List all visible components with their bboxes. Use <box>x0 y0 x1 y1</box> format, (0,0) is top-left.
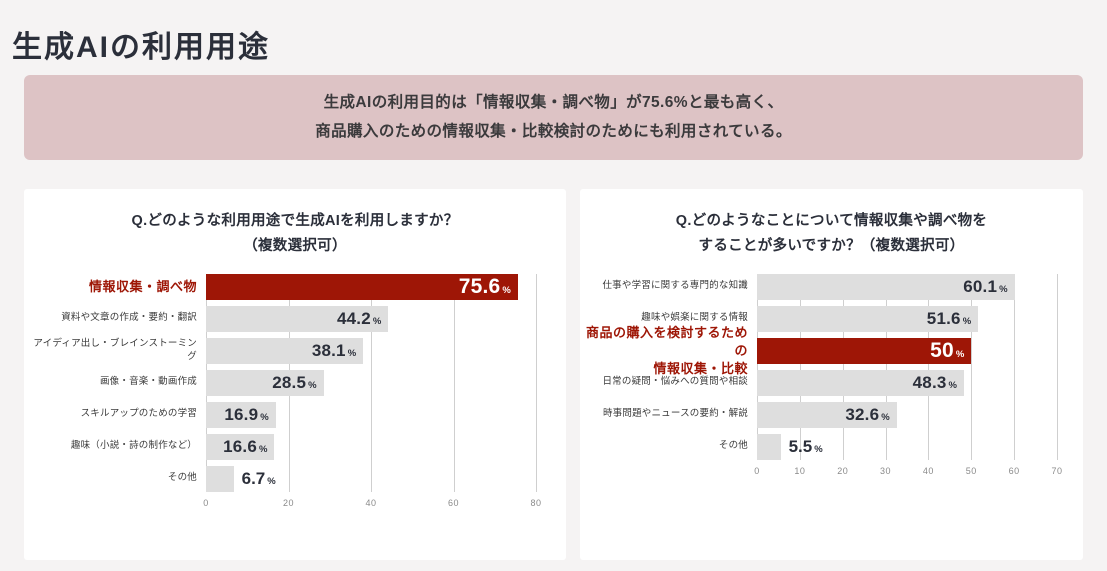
bar-value-unit: % <box>963 316 971 327</box>
chart-rows: 情報収集・調べ物75.6%資料や文章の作成・要約・翻訳44.2%アイディア出し・… <box>24 274 566 492</box>
bar-category-label: アイディア出し・ブレインストーミング <box>24 338 206 364</box>
bar-track: 5.5% <box>757 434 1083 460</box>
bar-value: 6.7% <box>242 469 276 489</box>
page-title: 生成AIの利用用途 <box>12 28 270 67</box>
chart-bar-row: その他5.5% <box>580 434 1083 460</box>
chart-bar-row: 時事問題やニュースの要約・解説32.6% <box>580 402 1083 428</box>
bar-category-label: 資料や文章の作成・要約・翻訳 <box>24 312 206 325</box>
axis-tick-label: 20 <box>283 498 294 508</box>
chart-bar-row: 情報収集・調べ物75.6% <box>24 274 566 300</box>
bar: 16.6% <box>206 434 274 460</box>
bar-value-unit: % <box>260 412 268 423</box>
chart-card-research-topics: Q.どのようなことについて情報収集や調べ物を することが多いですか？（複数選択可… <box>580 189 1083 560</box>
summary-line-2: 商品購入のための情報収集・比較検討のためにも利用されている。 <box>315 118 792 147</box>
gridline <box>757 274 758 460</box>
bar-track: 48.3% <box>757 370 1083 396</box>
axis-tick-label: 10 <box>794 466 805 476</box>
bar-value: 32.6% <box>845 405 889 425</box>
axis-tick-label: 40 <box>365 498 376 508</box>
axis-tick-label: 50 <box>966 466 977 476</box>
axis-tick-label: 0 <box>203 498 209 508</box>
bar: 44.2% <box>206 306 388 332</box>
bar-value-unit: % <box>881 412 889 423</box>
chart-title-line-1: Q.どのようなことについて情報収集や調べ物を <box>580 209 1083 234</box>
bar: 48.3% <box>757 370 964 396</box>
axis-tick-label: 0 <box>754 466 760 476</box>
x-axis: 020406080 <box>24 498 566 520</box>
chart-rows: 仕事や学習に関する専門的な知識60.1%趣味や娯楽に関する情報51.6%商品の購… <box>580 274 1083 460</box>
x-axis: 010203040506070 <box>580 466 1083 488</box>
bar-value-unit: % <box>956 349 964 360</box>
chart-bar-row: 商品の購入を検討するための情報収集・比較50% <box>580 338 1083 364</box>
bar: 28.5% <box>206 370 324 396</box>
gridline <box>886 274 887 460</box>
axis-tick-label: 20 <box>837 466 848 476</box>
chart-bar-row: その他6.7% <box>24 466 566 492</box>
bar-category-label: 趣味や娯楽に関する情報 <box>580 312 757 325</box>
summary-banner: 生成AIの利用目的は「情報収集・調べ物」が75.6%と最も高く、 商品購入のため… <box>24 75 1083 160</box>
chart-bar-row: 仕事や学習に関する専門的な知識60.1% <box>580 274 1083 300</box>
bar-value-unit: % <box>348 348 356 359</box>
bar-highlighted: 75.6% <box>206 274 518 300</box>
bar-track: 50% <box>757 338 1083 364</box>
bar-value-unit: % <box>814 444 822 455</box>
bar <box>206 466 234 492</box>
bar: 51.6% <box>757 306 978 332</box>
chart-title-line-1: Q.どのような利用用途で生成AIを利用しますか？ <box>24 209 566 234</box>
bar: 16.9% <box>206 402 276 428</box>
bar-category-label: その他 <box>580 440 757 453</box>
chart-bar-row: 日常の疑問・悩みへの質問や相談48.3% <box>580 370 1083 396</box>
bar-track: 32.6% <box>757 402 1083 428</box>
bar-category-label: 画像・音楽・動画作成 <box>24 376 206 389</box>
bar-track: 51.6% <box>757 306 1083 332</box>
chart-title-line-2: （複数選択可） <box>24 234 566 259</box>
chart-bar-row: アイディア出し・ブレインストーミング38.1% <box>24 338 566 364</box>
bar-value: 50% <box>930 339 964 363</box>
bar-value-unit: % <box>259 444 267 455</box>
chart-card-usage-purpose: Q.どのような利用用途で生成AIを利用しますか？ （複数選択可） 情報収集・調べ… <box>24 189 566 560</box>
bar-track: 44.2% <box>206 306 566 332</box>
bar <box>757 434 781 460</box>
bar-track: 38.1% <box>206 338 566 364</box>
axis-tick-label: 70 <box>1051 466 1062 476</box>
bar-track: 60.1% <box>757 274 1083 300</box>
chart-bar-row: 資料や文章の作成・要約・翻訳44.2% <box>24 306 566 332</box>
bar-value-unit: % <box>999 284 1007 295</box>
bar-highlighted: 50% <box>757 338 971 364</box>
bar-category-label: 情報収集・調べ物 <box>24 278 206 296</box>
axis-tick-label: 60 <box>1009 466 1020 476</box>
bar-track: 6.7% <box>206 466 566 492</box>
bar-track: 16.9% <box>206 402 566 428</box>
bar-track: 16.6% <box>206 434 566 460</box>
summary-line-1: 生成AIの利用目的は「情報収集・調べ物」が75.6%と最も高く、 <box>324 89 784 118</box>
bar-category-label: 時事問題やニュースの要約・解説 <box>580 408 757 421</box>
bar-category-label: 日常の疑問・悩みへの質問や相談 <box>580 376 757 389</box>
bar-value: 16.9% <box>224 405 268 425</box>
bar-value-unit: % <box>502 285 510 296</box>
bar-value: 44.2% <box>337 309 381 329</box>
gridlines <box>757 274 1057 460</box>
bar-chart-research-topics: 仕事や学習に関する専門的な知識60.1%趣味や娯楽に関する情報51.6%商品の購… <box>580 274 1083 488</box>
bar-track: 75.6% <box>206 274 566 300</box>
axis-tick-label: 80 <box>530 498 541 508</box>
bar-category-label: その他 <box>24 472 206 485</box>
gridline <box>843 274 844 460</box>
chart-title-line-2: することが多いですか？（複数選択可） <box>580 234 1083 259</box>
gridline <box>800 274 801 460</box>
chart-title-research-topics: Q.どのようなことについて情報収集や調べ物を することが多いですか？（複数選択可… <box>580 189 1083 260</box>
bar-category-label: 仕事や学習に関する専門的な知識 <box>580 280 757 293</box>
chart-bar-row: スキルアップのための学習16.9% <box>24 402 566 428</box>
bar: 60.1% <box>757 274 1015 300</box>
bar-value-unit: % <box>267 476 275 487</box>
bar-value: 75.6% <box>459 275 511 299</box>
bar-category-label: スキルアップのための学習 <box>24 408 206 421</box>
chart-bar-row: 趣味（小説・詩の制作など）16.6% <box>24 434 566 460</box>
chart-bar-row: 画像・音楽・動画作成28.5% <box>24 370 566 396</box>
gridline <box>928 274 929 460</box>
gridline <box>1014 274 1015 460</box>
axis-tick-label: 60 <box>448 498 459 508</box>
bar: 38.1% <box>206 338 363 364</box>
bar-value: 48.3% <box>913 373 957 393</box>
bar-category-label: 趣味（小説・詩の制作など） <box>24 440 206 453</box>
chart-title-usage-purpose: Q.どのような利用用途で生成AIを利用しますか？ （複数選択可） <box>24 189 566 260</box>
bar-value-unit: % <box>949 380 957 391</box>
axis-tick-label: 40 <box>923 466 934 476</box>
bar-value: 5.5% <box>789 437 823 457</box>
gridline <box>971 274 972 460</box>
bar-value: 51.6% <box>927 309 971 329</box>
axis-tick-label: 30 <box>880 466 891 476</box>
bar: 32.6% <box>757 402 897 428</box>
bar-value: 38.1% <box>312 341 356 361</box>
bar-value: 16.6% <box>223 437 267 457</box>
bar-track: 28.5% <box>206 370 566 396</box>
bar-value-unit: % <box>308 380 316 391</box>
charts-container: Q.どのような利用用途で生成AIを利用しますか？ （複数選択可） 情報収集・調べ… <box>24 189 1083 560</box>
bar-value: 60.1% <box>963 277 1007 297</box>
bar-value-unit: % <box>373 316 381 327</box>
bar-chart-usage-purpose: 情報収集・調べ物75.6%資料や文章の作成・要約・翻訳44.2%アイディア出し・… <box>24 274 566 520</box>
gridline <box>1057 274 1058 460</box>
bar-value: 28.5% <box>272 373 316 393</box>
